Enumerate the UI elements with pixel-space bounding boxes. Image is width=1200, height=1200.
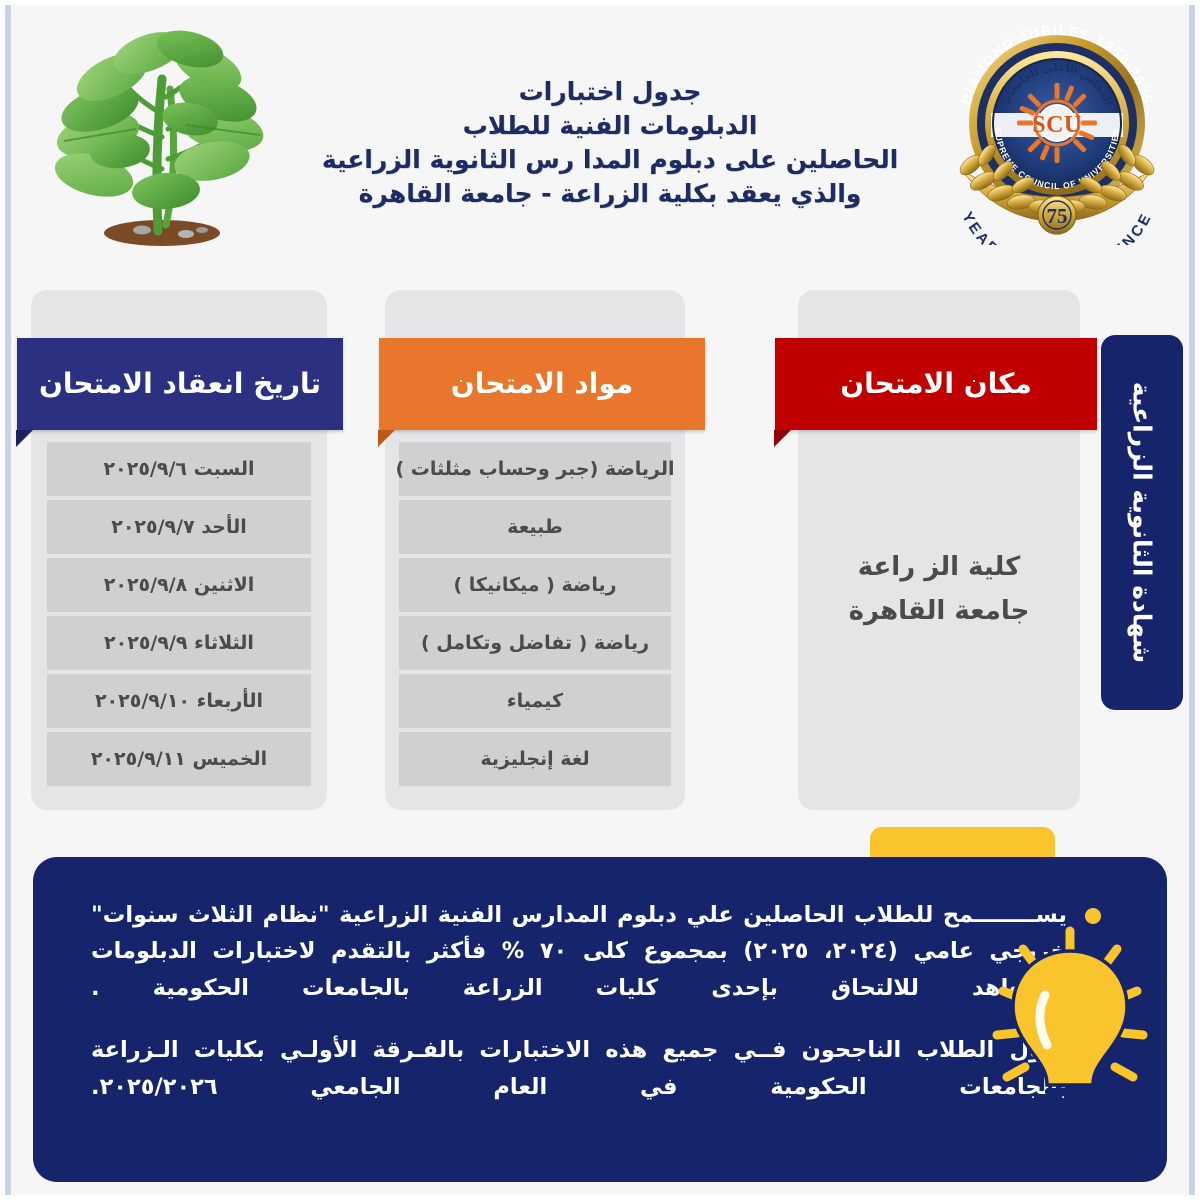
certificate-side-tab-label: شهادة الثانوية الزراعية xyxy=(1127,382,1156,664)
plant-illustration-icon xyxy=(50,19,265,259)
column-header-subject-label: مواد الامتحان xyxy=(445,367,639,401)
poster-root: جدول اختبارات الدبلومات الفنية للطلاب ال… xyxy=(0,0,1200,1200)
column-header-place: مكان الامتحان xyxy=(775,338,1097,430)
schedule-table: تاريخ انعقاد الامتحان مواد الامتحان مكان… xyxy=(5,290,1195,825)
ribbon-fold xyxy=(774,430,791,447)
date-cell-list: السبت ٢٠٢٥/٩/٦ الأحد ٢٠٢٥/٩/٧ الاثنين ٢٠… xyxy=(47,442,311,786)
page-title: جدول اختبارات الدبلومات الفنية للطلاب ال… xyxy=(275,75,945,211)
table-row: الثلاثاء ٢٠٢٥/٩/٩ xyxy=(47,616,311,670)
column-header-date-label: تاريخ انعقاد الامتحان xyxy=(33,367,327,401)
table-row: لغة إنجليزية xyxy=(399,732,671,786)
note-text-1: يســــــــمح للطلاب الحاصلين علي دبلوم ا… xyxy=(91,902,1067,1001)
table-row: الأربعاء ٢٠٢٥/٩/١٠ xyxy=(47,674,311,728)
ribbon-fold xyxy=(378,430,395,447)
table-row: طبيعة xyxy=(399,500,671,554)
note-text-2: قبول الطلاب الناجحون فــي جميع هذه الاخت… xyxy=(91,1037,1067,1099)
title-line-3: الحاصلين على دبلوم المدا رس الثانوية الز… xyxy=(275,143,945,177)
place-value: كلية الز راعة جامعة القاهرة xyxy=(798,545,1080,633)
column-header-subject: مواد الامتحان xyxy=(379,338,705,430)
title-line-4: والذي يعقد بكلية الزراعة - جامعة القاهرة xyxy=(275,177,945,211)
column-header-date: تاريخ انعقاد الامتحان xyxy=(17,338,343,430)
subject-cell-list: الرياضة (جبر وحساب مثلثات ) طبيعة رياضة … xyxy=(399,442,671,786)
scu-years-badge: 75 xyxy=(1047,204,1068,228)
table-row: الاثنين ٢٠٢٥/٩/٨ xyxy=(47,558,311,612)
list-item: يســــــــمح للطلاب الحاصلين علي دبلوم ا… xyxy=(91,897,1101,1006)
title-line-1: جدول اختبارات xyxy=(275,75,945,109)
table-row: السبت ٢٠٢٥/٩/٦ xyxy=(47,442,311,496)
title-line-2: الدبلومات الفنية للطلاب xyxy=(275,109,945,143)
ribbon-fold xyxy=(16,430,33,447)
table-row: رياضة ( ميكانيكا ) xyxy=(399,558,671,612)
certificate-side-tab: شهادة الثانوية الزراعية xyxy=(1101,335,1183,710)
table-row: رياضة ( تفاضل وتكامل ) xyxy=(399,616,671,670)
notes-panel: يســــــــمح للطلاب الحاصلين علي دبلوم ا… xyxy=(33,857,1167,1182)
bullet-dot-icon xyxy=(1085,908,1101,924)
place-line-1: كلية الز راعة xyxy=(798,545,1080,589)
scu-logo-icon: SCU المجلس الأعلى للجامعات SUPREME COUNC… xyxy=(947,15,1167,245)
poster-header: جدول اختبارات الدبلومات الفنية للطلاب ال… xyxy=(5,5,1195,275)
list-item: قبول الطلاب الناجحون فــي جميع هذه الاخت… xyxy=(91,1032,1101,1105)
table-row: الأحد ٢٠٢٥/٩/٧ xyxy=(47,500,311,554)
table-row: الرياضة (جبر وحساب مثلثات ) xyxy=(399,442,671,496)
place-line-2: جامعة القاهرة xyxy=(798,589,1080,633)
table-row: كيمياء xyxy=(399,674,671,728)
bullet-dot-icon xyxy=(1085,1043,1101,1059)
table-row: الخميس ٢٠٢٥/٩/١١ xyxy=(47,732,311,786)
column-header-place-label: مكان الامتحان xyxy=(834,367,1038,401)
scu-monogram: SCU xyxy=(1032,112,1082,138)
